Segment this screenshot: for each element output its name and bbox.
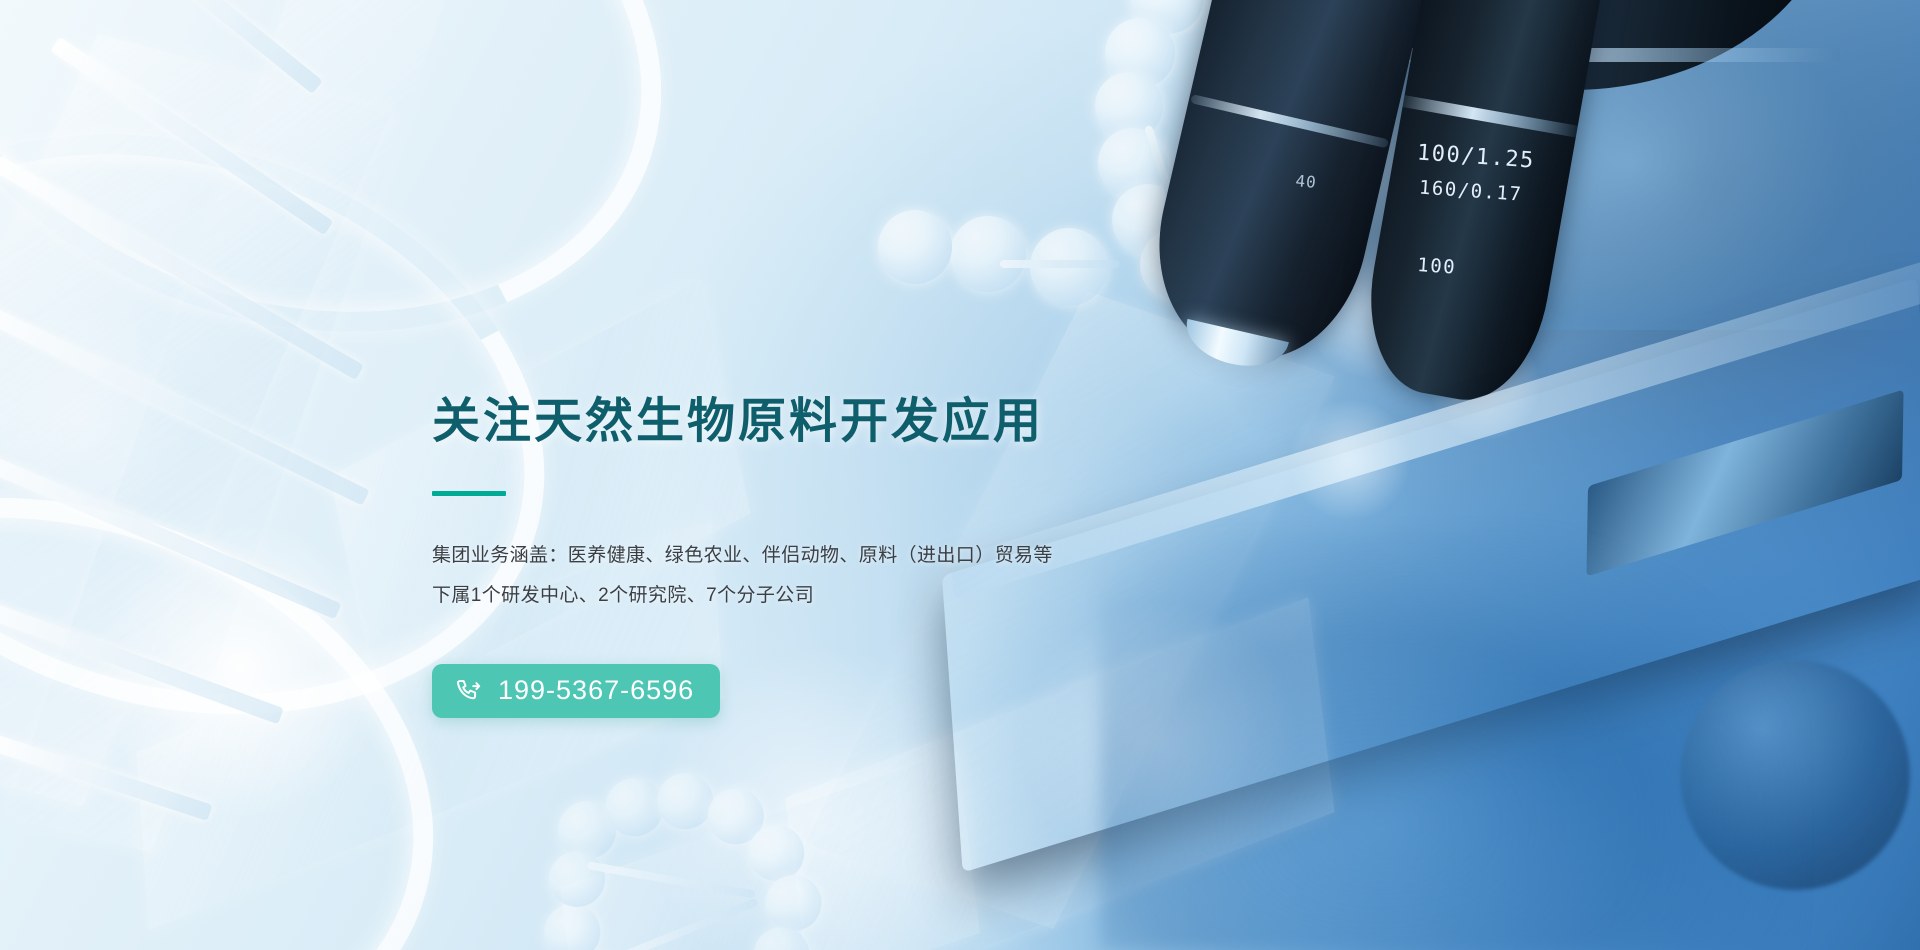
title-divider xyxy=(432,491,506,496)
phone-contact-button[interactable]: 199-5367-6596 xyxy=(432,664,720,718)
microscope-turret xyxy=(1280,0,1840,90)
microscope-objective-100x: 100/1.25 160/0.17 100 xyxy=(1354,0,1618,411)
bokeh-light-4 xyxy=(1300,230,1450,380)
bokeh-light-3 xyxy=(1255,60,1455,260)
microscope-stage-clip xyxy=(1586,390,1903,577)
objective-label-40: 40 xyxy=(1295,171,1318,192)
bokeh-light-8 xyxy=(1430,330,1540,440)
description-line-2: 下属1个研发中心、2个研究院、7个分子公司 xyxy=(432,576,1332,616)
bokeh-light-2 xyxy=(0,300,200,540)
page-title: 关注天然生物原料开发应用 xyxy=(432,396,1332,449)
phone-forward-icon xyxy=(454,676,484,706)
objective-label-100-125: 100/1.25 xyxy=(1416,140,1535,173)
hero-content: 关注天然生物原料开发应用 集团业务涵盖：医养健康、绿色农业、伴侣动物、原料（进出… xyxy=(432,396,1332,718)
microscope-objective-40x: 40 xyxy=(1135,0,1430,378)
objective-label-160-017: 160/0.17 xyxy=(1418,177,1523,206)
phone-number-label: 199-5367-6596 xyxy=(498,677,694,704)
hero-description: 集团业务涵盖：医养健康、绿色农业、伴侣动物、原料（进出口）贸易等 下属1个研发中… xyxy=(432,536,1332,616)
objective-label-100: 100 xyxy=(1417,254,1457,279)
microscope-focus-knob xyxy=(1680,660,1910,890)
hero-banner: 40 100/1.25 160/0.17 100 关注天然生物原料开发应用 集团… xyxy=(0,0,1920,950)
bokeh-light-1 xyxy=(90,520,390,820)
description-line-1: 集团业务涵盖：医养健康、绿色农业、伴侣动物、原料（进出口）贸易等 xyxy=(432,536,1332,576)
dna-helix-bottom xyxy=(533,726,1106,950)
